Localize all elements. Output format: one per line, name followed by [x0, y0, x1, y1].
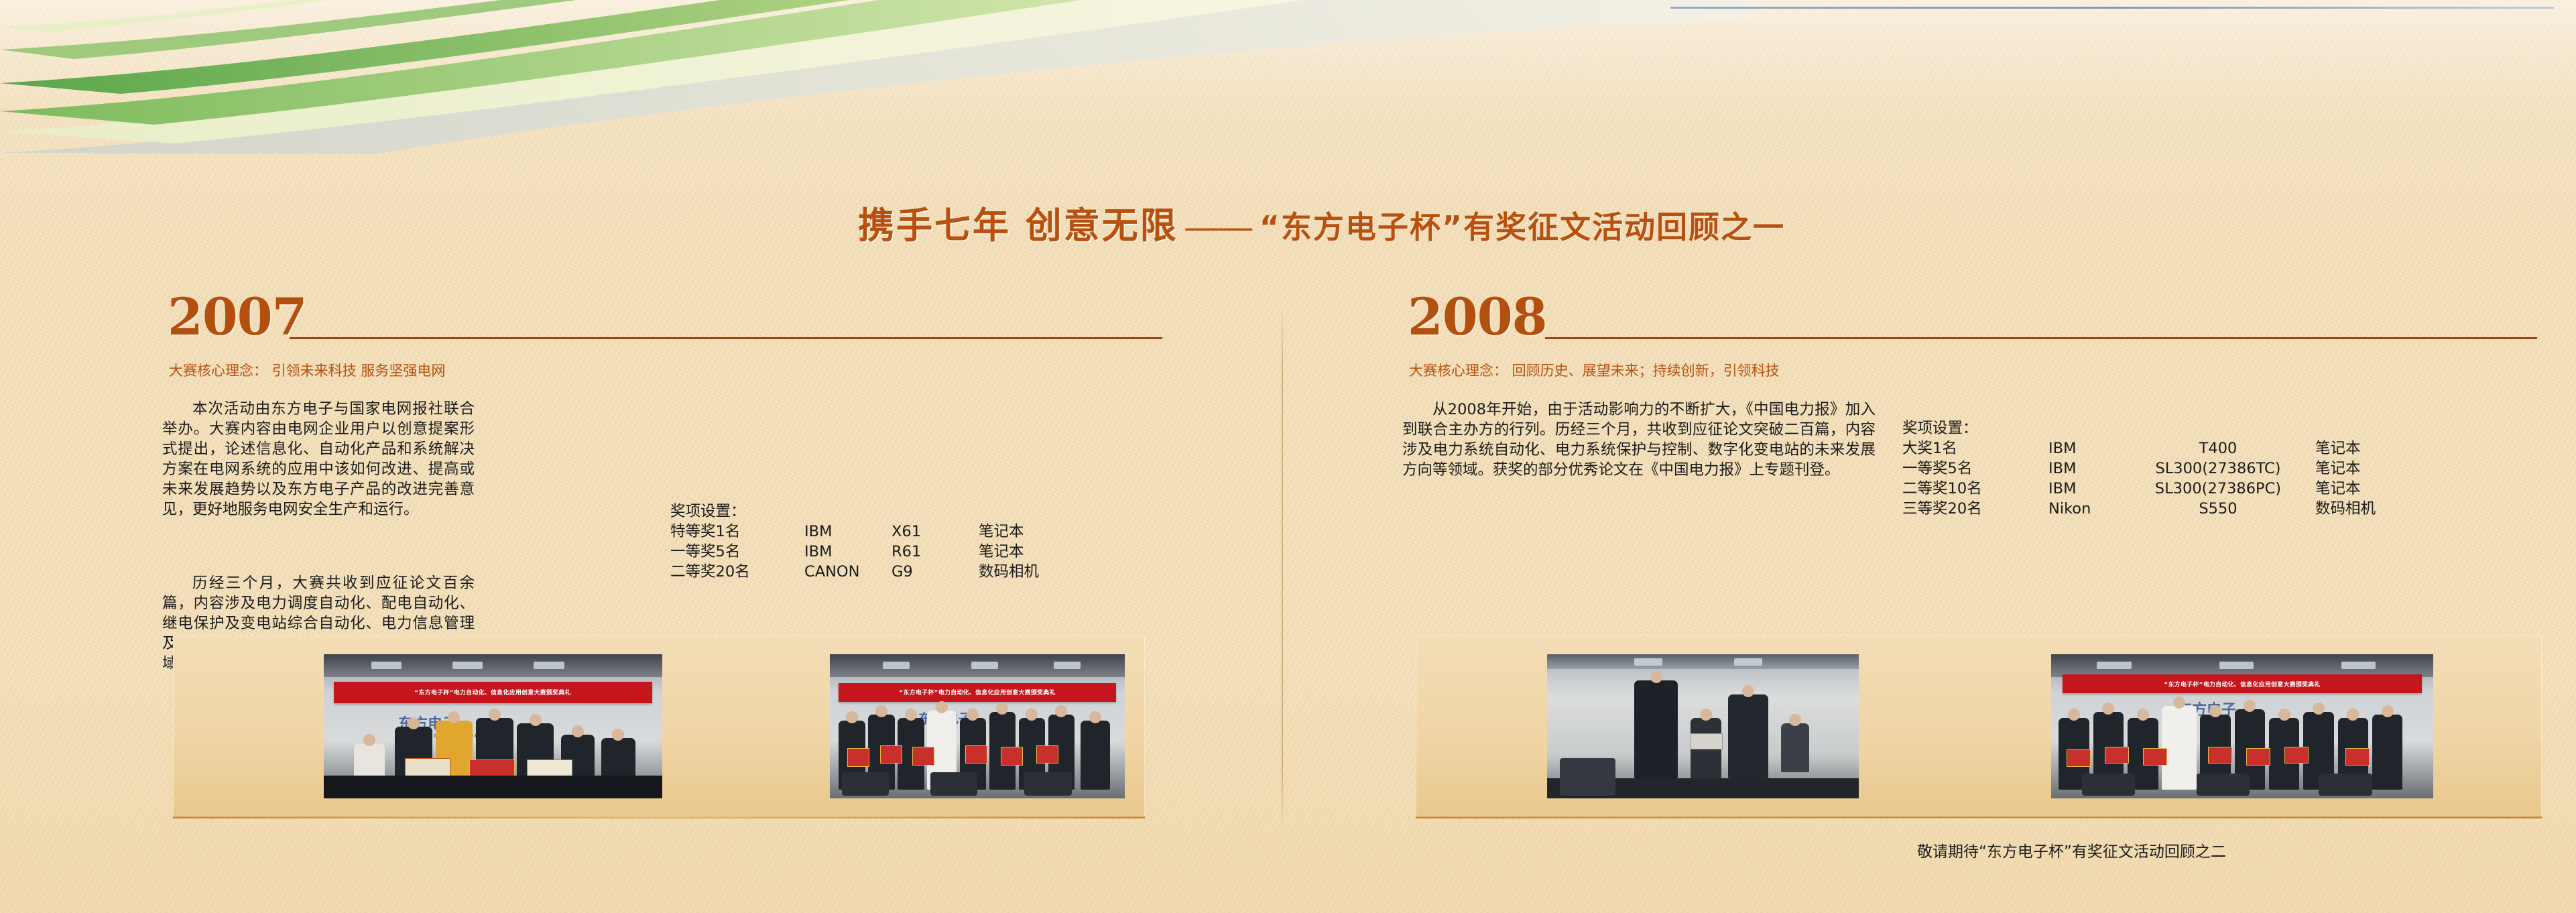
photo-2007-a[interactable]: “东方电子杯”电力自动化、信息化应用创意大赛颁奖典礼 东方电子 DONGFANG…	[324, 654, 662, 798]
table-row: 三等奖20名 Nikon S550 数码相机	[1902, 499, 2376, 519]
awards-table-2007: 特等奖1名 IBM X61 笔记本 一等奖5名 IBM R61 笔记本 二等奖2…	[670, 522, 1039, 582]
section-year-2008: 2008	[1408, 292, 1547, 343]
award-brand: IBM	[804, 522, 892, 542]
table-row: 一等奖5名 IBM SL300(27386TC) 笔记本	[1902, 459, 2376, 479]
paragraph-2007-1: 本次活动由东方电子与国家电网报社联合举办。大赛内容由电网企业用户以创意提案形式提…	[162, 399, 475, 520]
award-brand: CANON	[804, 562, 892, 582]
award-rank: 一等奖5名	[1902, 459, 2048, 479]
partner-logo-bar: 中国电力报 CHINA ELECTRIC POWER NEWS 国家电网报 ST…	[1670, 4, 2562, 86]
paragraph-2007-2-continued	[670, 399, 1093, 419]
photo-2007-b[interactable]: “东方电子杯”电力自动化、信息化应用创意大赛颁奖典礼 东方电子	[830, 654, 1125, 798]
page-title: 携手七年 创意无限 —— “东方电子杯”有奖征文活动回顾之一	[858, 196, 1785, 249]
award-brand: IBM	[804, 542, 892, 562]
awards-title-2008: 奖项设置：	[1902, 418, 2376, 438]
concept-line-2008: 大赛核心理念： 回顾历史、展望未来；持续创新，引领科技	[1409, 360, 1780, 380]
award-model: G9	[892, 562, 979, 582]
award-brand: IBM	[2048, 438, 2121, 459]
award-brand: IBM	[2048, 479, 2121, 499]
award-prize: 笔记本	[2315, 438, 2376, 459]
award-rank: 三等奖20名	[1902, 499, 2048, 519]
concept-line-2007: 大赛核心理念： 引领未来科技 服务坚强电网	[169, 360, 445, 380]
title-main: 携手七年 创意无限	[858, 204, 1178, 247]
award-prize: 笔记本	[979, 542, 1039, 562]
photo-banner: “东方电子杯”电力自动化、信息化应用创意大赛颁奖典礼	[839, 683, 1116, 702]
section-year-2007: 2007	[168, 292, 307, 343]
award-model: R61	[892, 542, 979, 562]
column-divider	[1282, 303, 1283, 833]
award-rank: 二等奖20名	[670, 562, 804, 582]
photo-2008-a[interactable]	[1547, 654, 1859, 798]
award-prize: 数码相机	[979, 562, 1039, 582]
section-rule-2007	[290, 337, 1162, 339]
award-prize: 笔记本	[979, 522, 1039, 542]
award-prize: 数码相机	[2315, 499, 2376, 519]
award-prize: 笔记本	[2315, 459, 2376, 479]
footer-note: 敬请期待“东方电子杯”有奖征文活动回顾之二	[1917, 839, 2226, 861]
awards-title-2007: 奖项设置：	[670, 501, 1039, 522]
award-model: X61	[892, 522, 979, 542]
table-row: 一等奖5名 IBM R61 笔记本	[670, 542, 1039, 562]
award-model: T400	[2121, 438, 2315, 459]
photo-2008-b[interactable]: “东方电子杯”电力自动化、信息化应用创意大赛颁奖典礼 东方电子	[2051, 654, 2433, 798]
awards-block-2008: 奖项设置： 大奖1名 IBM T400 笔记本 一等奖5名 IBM SL300(…	[1902, 418, 2376, 519]
photo-banner: “东方电子杯”电力自动化、信息化应用创意大赛颁奖典礼	[2063, 674, 2422, 693]
green-ribbon-decoration	[0, 0, 1756, 154]
section-rule-2008	[1545, 337, 2537, 339]
table-row: 二等奖20名 CANON G9 数码相机	[670, 562, 1039, 582]
awards-block-2007: 奖项设置： 特等奖1名 IBM X61 笔记本 一等奖5名 IBM R61 笔记…	[670, 501, 1039, 582]
award-rank: 一等奖5名	[670, 542, 804, 562]
award-model: S550	[2121, 499, 2315, 519]
title-dash: ——	[1181, 208, 1256, 245]
photo-banner: “东方电子杯”电力自动化、信息化应用创意大赛颁奖典礼	[334, 682, 652, 703]
award-model: SL300(27386TC)	[2121, 459, 2315, 479]
award-brand: IBM	[2048, 459, 2121, 479]
award-rank: 大奖1名	[1902, 438, 2048, 459]
table-row: 特等奖1名 IBM X61 笔记本	[670, 522, 1039, 542]
table-row: 大奖1名 IBM T400 笔记本	[1902, 438, 2376, 459]
table-row: 二等奖10名 IBM SL300(27386PC) 笔记本	[1902, 479, 2376, 499]
footer-rule	[1416, 816, 2542, 818]
awards-table-2008: 大奖1名 IBM T400 笔记本 一等奖5名 IBM SL300(27386T…	[1902, 438, 2376, 519]
award-model: SL300(27386PC)	[2121, 479, 2315, 499]
award-brand: Nikon	[2048, 499, 2121, 519]
paragraph-2008-1: 从2008年开始，由于活动影响力的不断扩大，《中国电力报》加入到联合主办方的行列…	[1402, 400, 1876, 480]
title-subtitle: “东方电子杯”有奖征文活动回顾之一	[1260, 209, 1785, 245]
award-rank: 特等奖1名	[670, 522, 804, 542]
award-rank: 二等奖10名	[1902, 479, 2048, 499]
award-prize: 笔记本	[2315, 479, 2376, 499]
